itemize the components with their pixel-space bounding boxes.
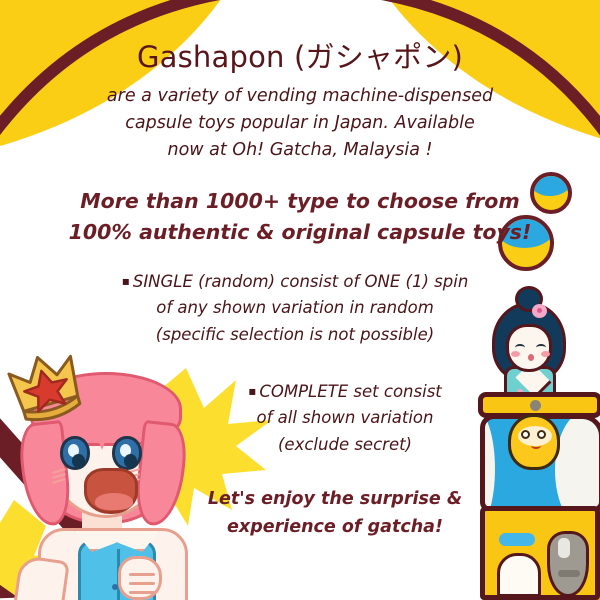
page-title: Gashapon (ガシャポン) (0, 42, 600, 74)
option-complete-line-3: (exclude secret) (205, 432, 485, 459)
option-complete-line-2: of all shown variation (205, 405, 485, 432)
intro-line-1: are a variety of vending machine-dispens… (60, 83, 540, 110)
intro-line-2: capsule toys popular in Japan. Available (60, 110, 540, 137)
option-single: ▪SINGLE (random) consist of ONE (1) spin… (95, 269, 495, 349)
intro-paragraph: are a variety of vending machine-dispens… (60, 83, 540, 164)
option-complete: ▪COMPLETE set consist of all shown varia… (205, 379, 485, 459)
option-complete-text-1: COMPLETE set consist (259, 382, 441, 401)
option-single-line-3: (specific selection is not possible) (95, 322, 495, 349)
option-single-line-1: ▪SINGLE (random) consist of ONE (1) spin (95, 269, 495, 296)
option-single-text-1: SINGLE (random) consist of ONE (1) spin (133, 272, 468, 291)
poster-content: Gashapon (ガシャポン) are a variety of vendin… (0, 0, 600, 600)
option-single-line-2: of any shown variation in random (95, 295, 495, 322)
options-list: ▪SINGLE (random) consist of ONE (1) spin… (0, 269, 600, 459)
option-complete-line-1: ▪COMPLETE set consist (205, 379, 485, 406)
headline-line-1: More than 1000+ type to choose from (28, 186, 572, 217)
bullet-marker-icon: ▪ (122, 274, 130, 288)
tagline-line-2: experience of gatcha! (190, 513, 480, 541)
poster-canvas: Gashapon (ガシャポン) are a variety of vendin… (0, 0, 600, 600)
headline-block: More than 1000+ type to choose from 100%… (28, 186, 572, 248)
headline-line-2: 100% authentic & original capsule toys! (28, 217, 572, 248)
tagline-block: Let's enjoy the surprise & experience of… (190, 485, 480, 541)
intro-line-3: now at Oh! Gatcha, Malaysia ! (60, 137, 540, 164)
bullet-marker-icon: ▪ (248, 384, 256, 398)
tagline-line-1: Let's enjoy the surprise & (190, 485, 480, 513)
